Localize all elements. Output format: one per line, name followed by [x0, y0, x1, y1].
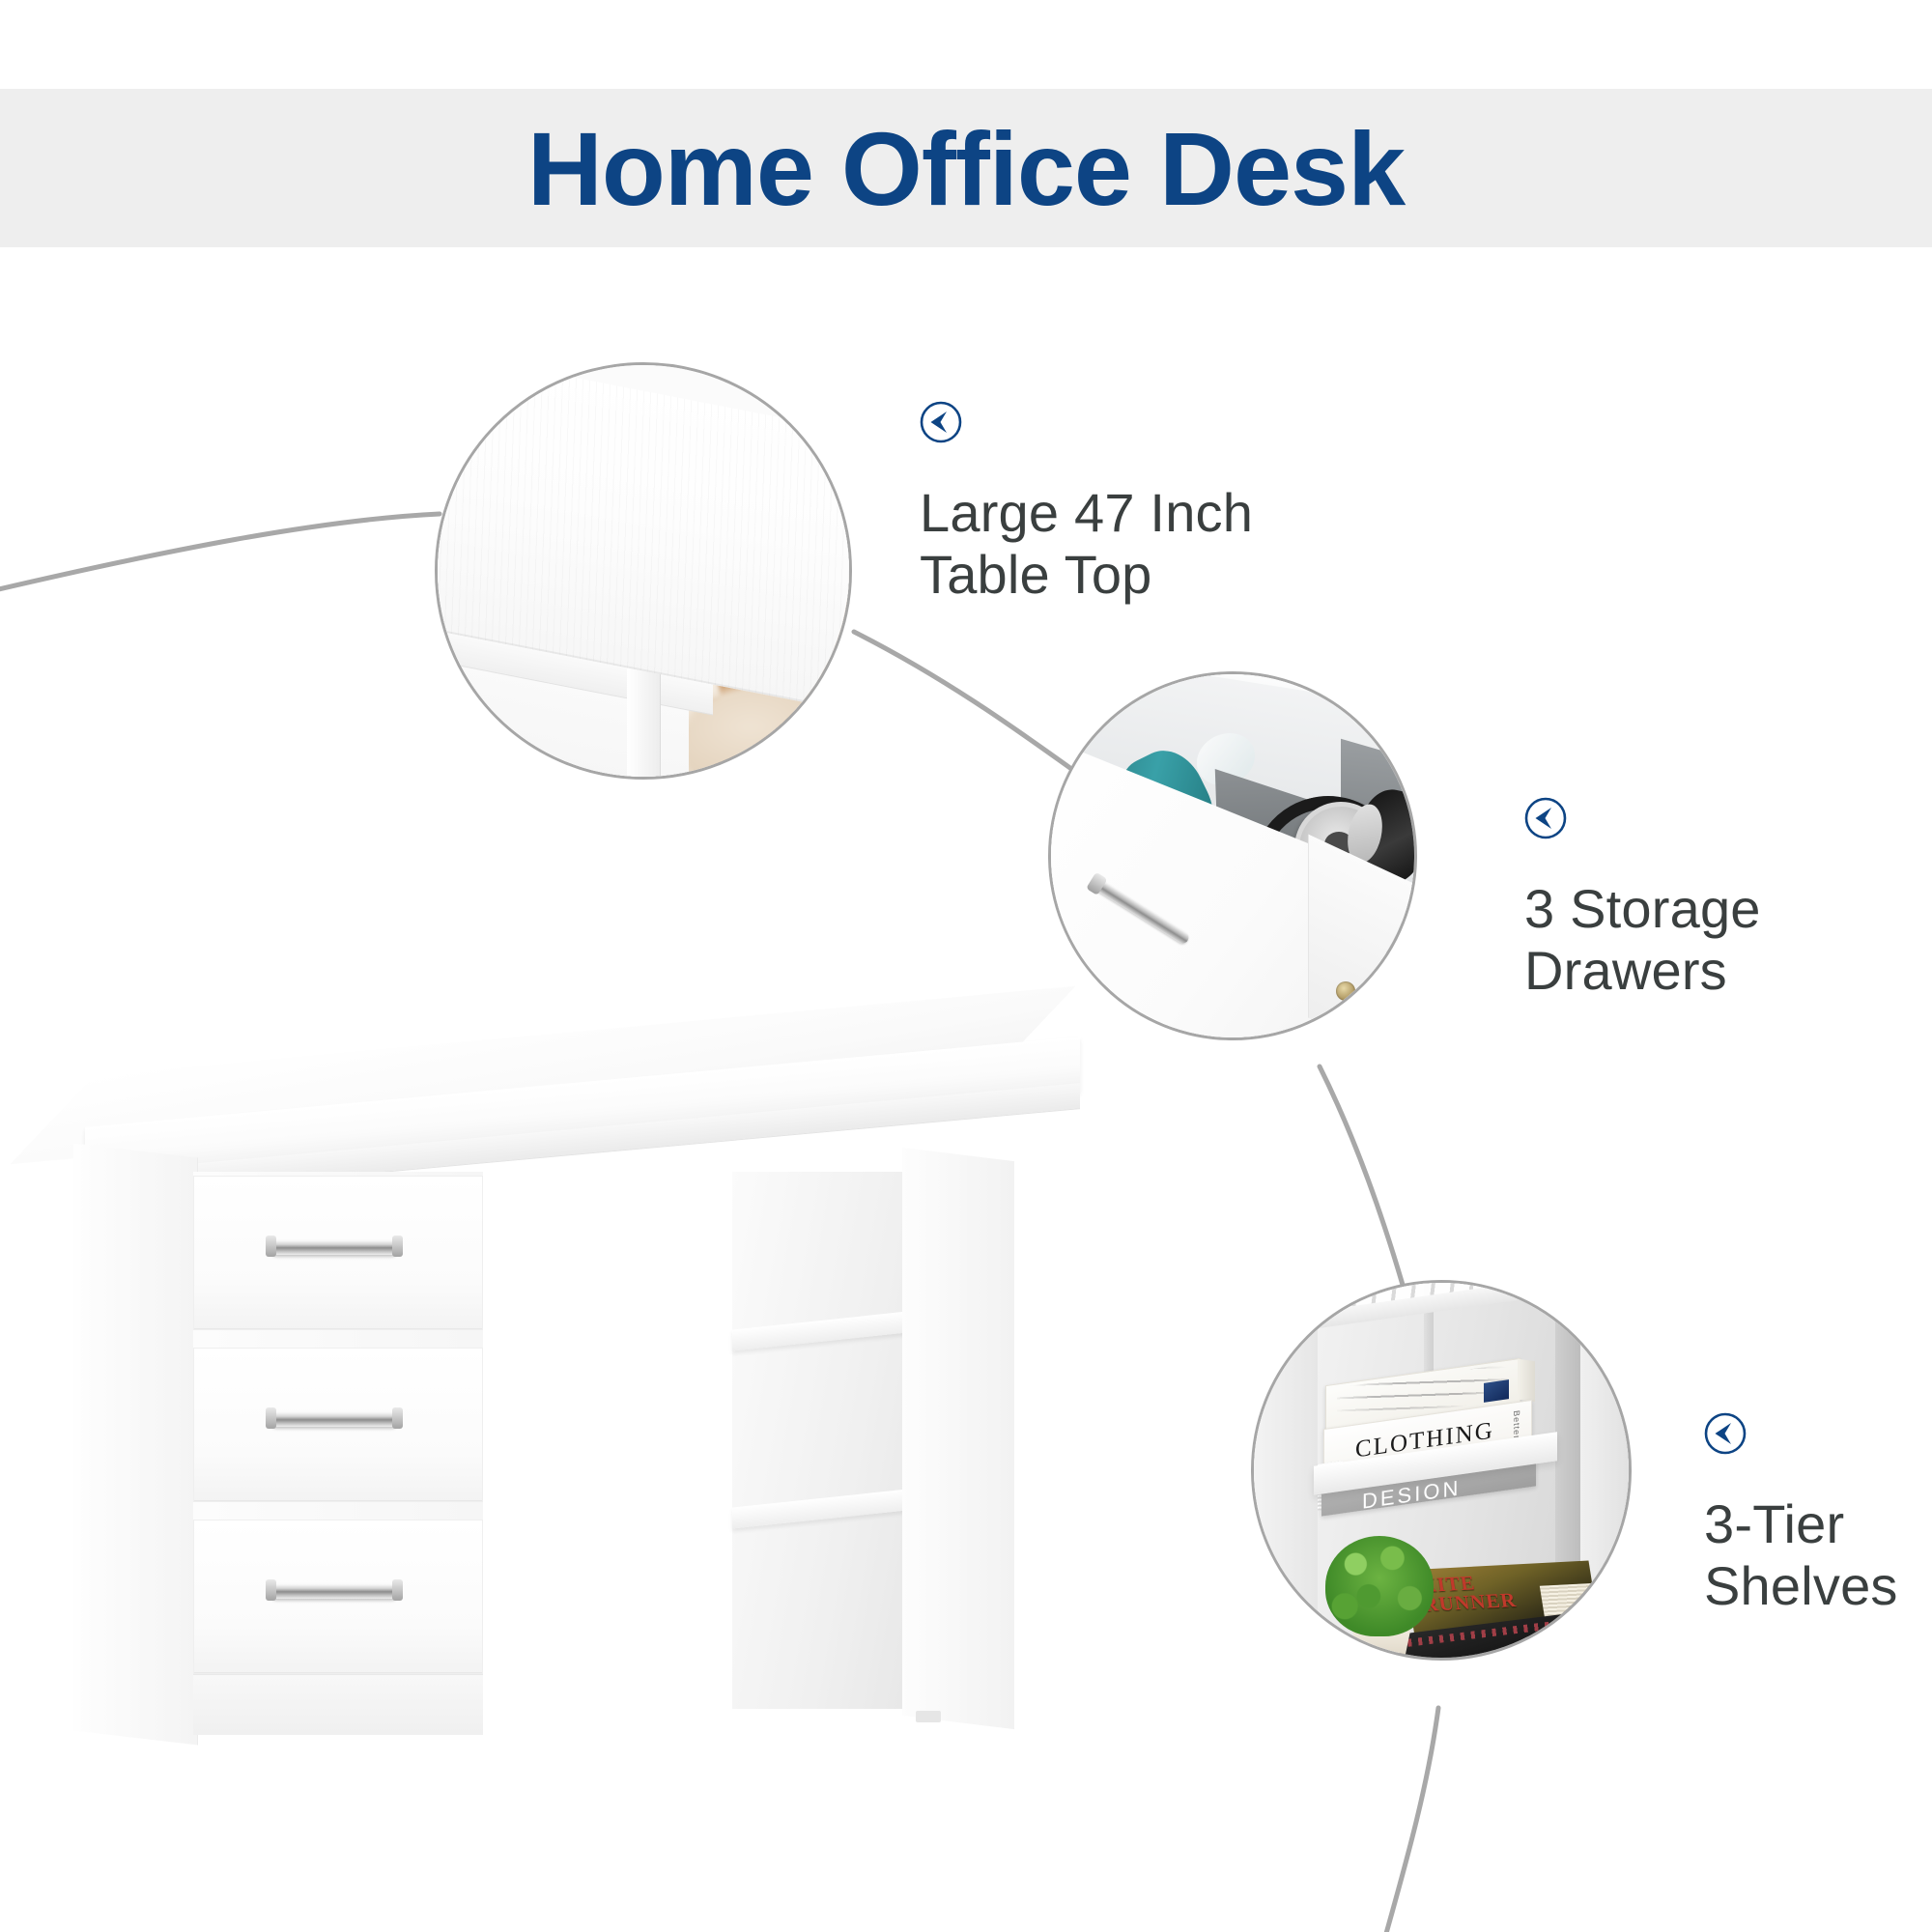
- circled-left-arrow-icon: [920, 401, 962, 443]
- infographic-page: Home Office Desk: [0, 0, 1932, 1932]
- connector-left-edge-to-tabletop: [0, 514, 440, 591]
- circled-left-arrow-icon: [1524, 797, 1567, 839]
- connector-shelves-to-bottom: [1385, 1708, 1438, 1932]
- book-spine-label: Better: [1512, 1409, 1521, 1439]
- callout-shelves: 3-Tier Shelves: [1704, 1412, 1898, 1617]
- circled-left-arrow-icon: [1704, 1412, 1747, 1455]
- product-image-desk: [39, 1029, 1130, 1792]
- inset-photo-drawer: ANTIQUE: [1048, 671, 1417, 1040]
- book-bookmark-tab: [1484, 1379, 1509, 1403]
- callout-tabletop: Large 47 Inch Table Top: [920, 401, 1253, 606]
- shelf-unit-back: [732, 1172, 902, 1709]
- shelves-photo: CLOTHING Better HOME DESION KITE RUNNER: [1254, 1283, 1629, 1658]
- callout-drawers-label: 3 Storage Drawers: [1524, 878, 1761, 1002]
- shelf-unit-side-panel: [902, 1148, 1014, 1729]
- cam-screw-upper: [1336, 981, 1355, 1001]
- connector-tabletop-to-drawer: [854, 632, 1074, 771]
- drawer-handle-icon: [270, 1240, 399, 1255]
- desk-cabinet-side-panel: [73, 1144, 198, 1746]
- potted-plant: [1325, 1536, 1434, 1636]
- drawer-photo: ANTIQUE: [1051, 674, 1414, 1037]
- callout-shelves-label: 3-Tier Shelves: [1704, 1493, 1898, 1617]
- callout-tabletop-label: Large 47 Inch Table Top: [920, 482, 1253, 606]
- drawer-handle-icon: [270, 1584, 399, 1599]
- desk-cabinet-plinth: [193, 1674, 483, 1735]
- connector-drawer-to-shelves: [1320, 1066, 1403, 1285]
- tabletop-photo: [438, 365, 849, 777]
- cam-screw-lower: [1341, 1022, 1360, 1040]
- desk-drawer-top: [193, 1176, 483, 1330]
- desk-drawer-middle: [193, 1348, 483, 1502]
- book-kite-runner-title: KITE RUNNER: [1419, 1570, 1542, 1614]
- inset-photo-shelves: CLOTHING Better HOME DESION KITE RUNNER: [1251, 1280, 1632, 1661]
- desk-shelf-unit: [732, 1154, 1012, 1715]
- drawer-handle-icon: [270, 1412, 399, 1427]
- callout-drawers: 3 Storage Drawers: [1524, 797, 1761, 1002]
- inset-photo-tabletop: [435, 362, 852, 780]
- desk-drawer-bottom: [193, 1520, 483, 1674]
- shelf-left-panel: [1254, 1283, 1318, 1661]
- page-title: Home Office Desk: [0, 89, 1932, 247]
- desk-foot-right: [916, 1711, 941, 1722]
